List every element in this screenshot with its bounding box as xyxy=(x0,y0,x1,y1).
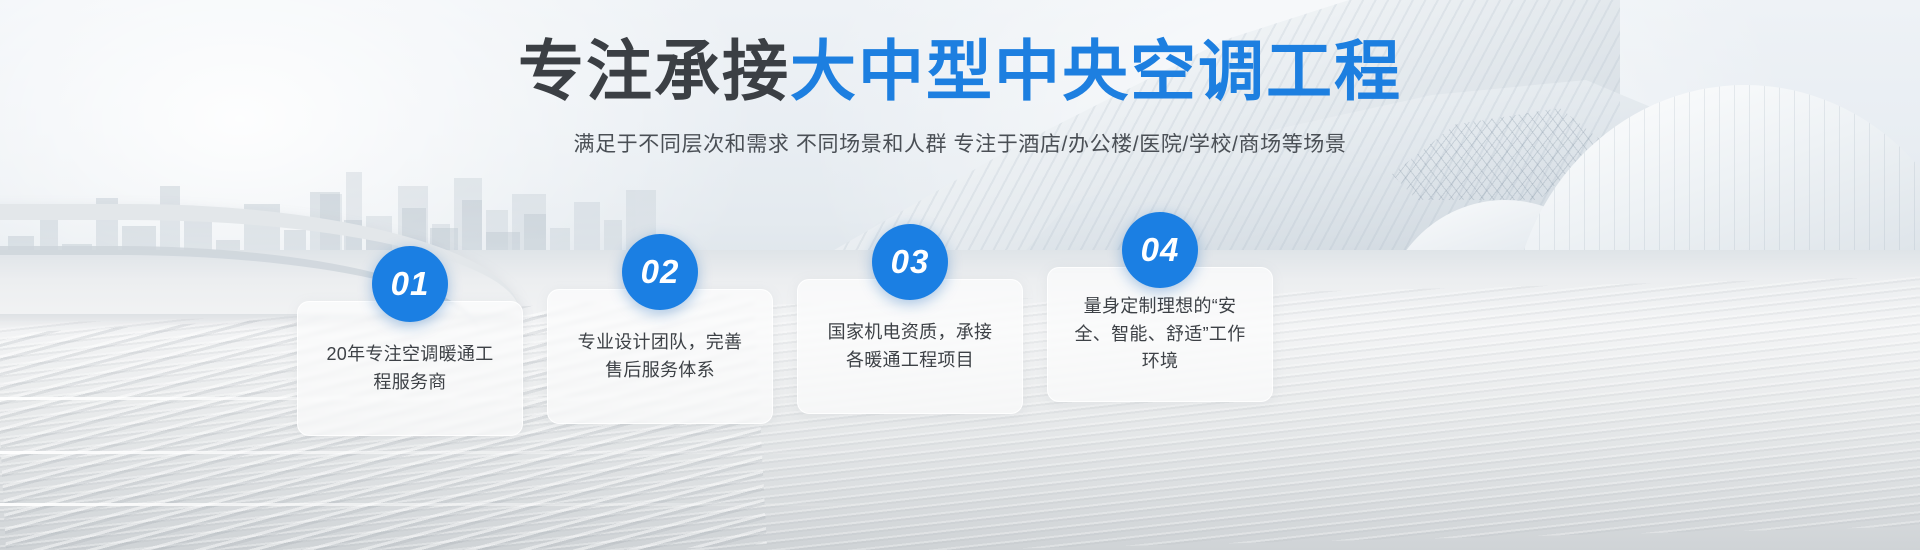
feature-badge-01: 01 xyxy=(372,246,448,322)
feature-card-04[interactable]: 04 量身定制理想的“安全、智能、舒适”工作环境 xyxy=(1047,267,1273,402)
lane-line-3 xyxy=(0,503,900,506)
hero-banner: 专注承接大中型中央空调工程 满足于不同层次和需求 不同场景和人群 专注于酒店/办… xyxy=(0,0,1920,550)
lane-line-2 xyxy=(0,451,900,454)
page-subtitle: 满足于不同层次和需求 不同场景和人群 专注于酒店/办公楼/医院/学校/商场等场景 xyxy=(0,128,1920,158)
feature-card-text-03: 国家机电资质，承接各暖通工程项目 xyxy=(821,319,999,375)
feature-badge-04: 04 xyxy=(1122,212,1198,288)
feature-card-text-02: 专业设计团队，完善售后服务体系 xyxy=(571,329,749,385)
page-title-accent-text: 大中型中央空调工程 xyxy=(790,34,1402,108)
feature-card-01[interactable]: 01 20年专注空调暖通工程服务商 xyxy=(297,301,523,436)
feature-badge-02: 02 xyxy=(622,234,698,310)
feature-card-text-01: 20年专注空调暖通工程服务商 xyxy=(321,341,499,397)
feature-card-03[interactable]: 03 国家机电资质，承接各暖通工程项目 xyxy=(797,279,1023,414)
feature-card-text-04: 量身定制理想的“安全、智能、舒适”工作环境 xyxy=(1071,293,1249,377)
page-title: 专注承接大中型中央空调工程 xyxy=(0,38,1920,104)
feature-card-02[interactable]: 02 专业设计团队，完善售后服务体系 xyxy=(547,289,773,424)
feature-card-list: 01 20年专注空调暖通工程服务商 02 专业设计团队，完善售后服务体系 03 … xyxy=(297,283,1273,436)
page-title-dark-text: 专注承接 xyxy=(518,34,790,108)
feature-badge-03: 03 xyxy=(872,224,948,300)
